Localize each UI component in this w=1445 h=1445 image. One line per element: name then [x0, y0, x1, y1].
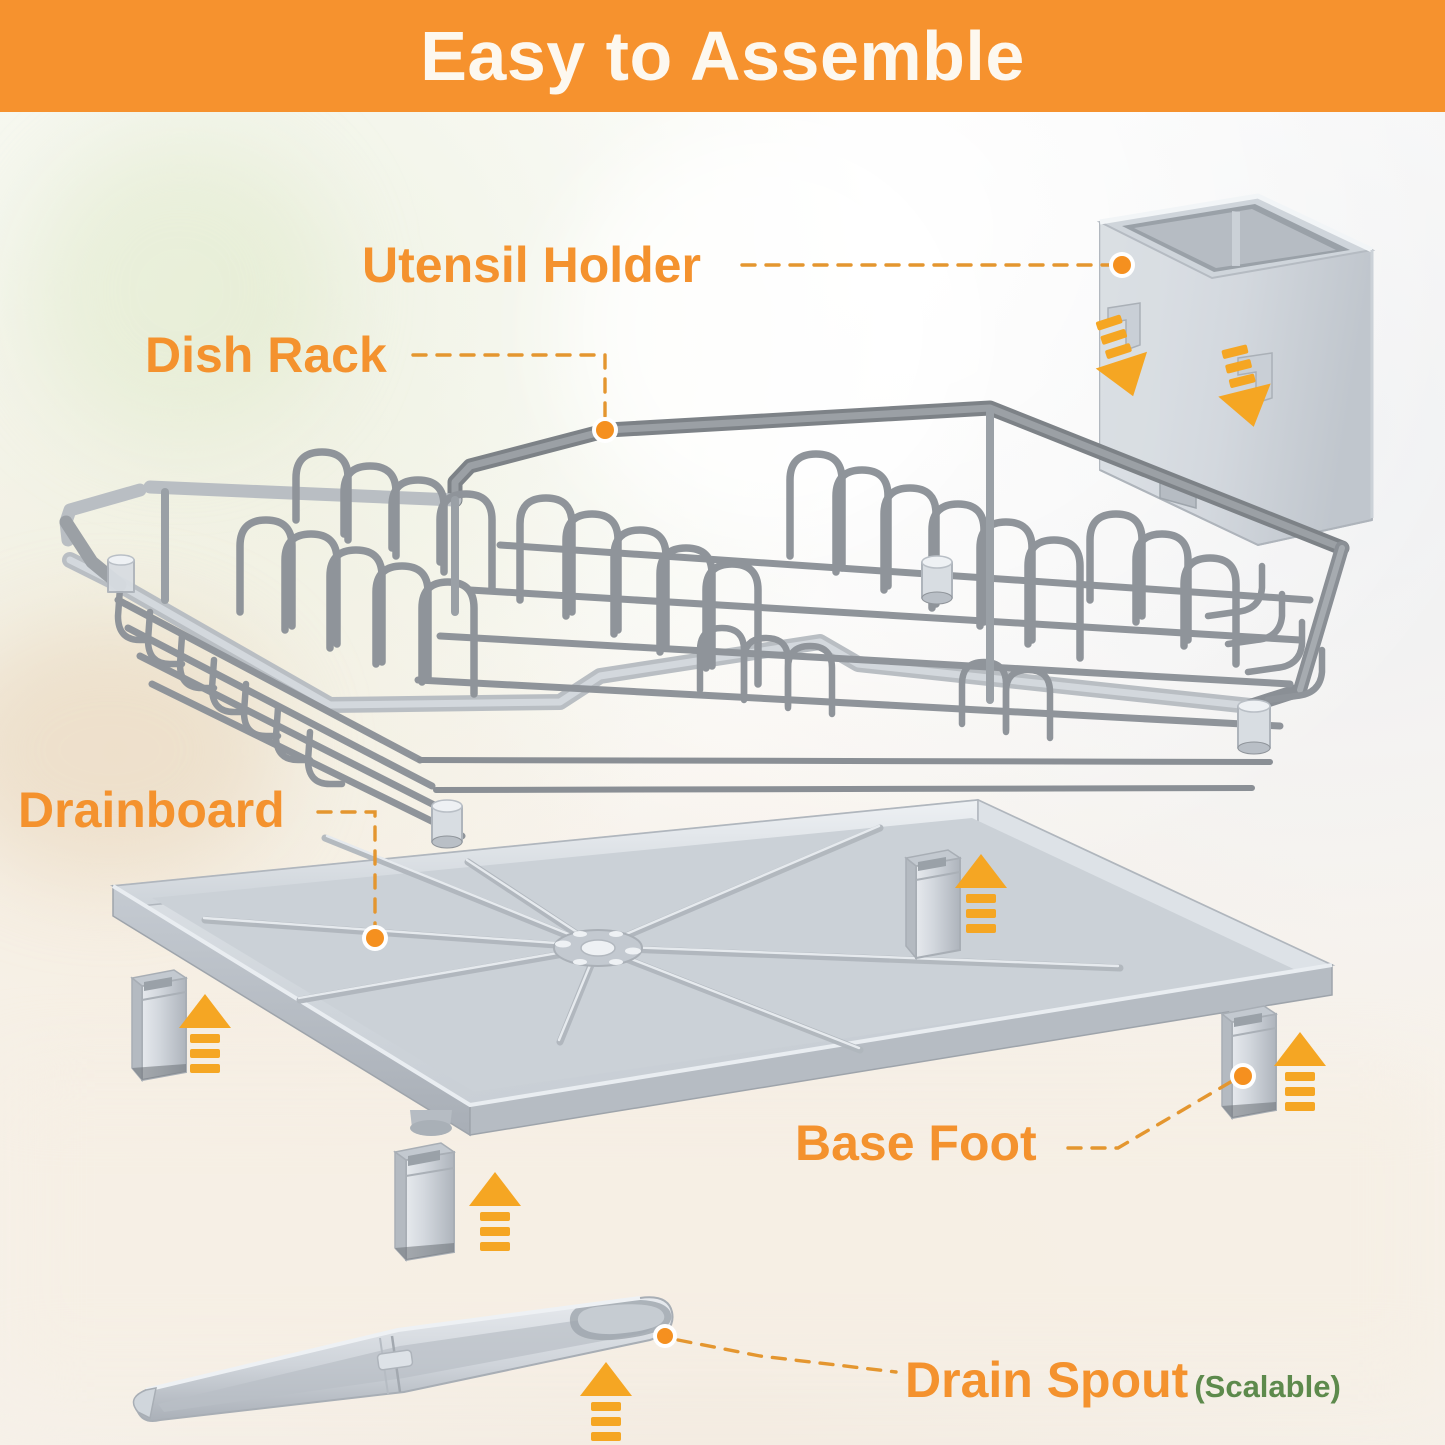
- callout-label-drainboard: Drainboard: [18, 785, 285, 835]
- infographic-canvas: Easy to Assemble: [0, 0, 1445, 1445]
- callout-label-dish-rack: Dish Rack: [145, 330, 387, 380]
- page-title: Easy to Assemble: [420, 21, 1025, 91]
- callout-text-utensil-holder: Utensil Holder: [362, 237, 701, 293]
- callout-label-drain-spout: Drain Spout(Scalable): [905, 1355, 1341, 1405]
- background-blur-window: [560, 120, 980, 540]
- callout-sublabel-scalable: (Scalable): [1194, 1369, 1340, 1404]
- callout-label-utensil-holder: Utensil Holder: [362, 240, 701, 290]
- callout-text-drain-spout: Drain Spout: [905, 1352, 1188, 1408]
- callout-text-base-foot: Base Foot: [795, 1115, 1037, 1171]
- callout-label-base-foot: Base Foot: [795, 1118, 1037, 1168]
- callout-text-dish-rack: Dish Rack: [145, 327, 387, 383]
- background-blur-green: [30, 140, 330, 440]
- callout-text-drainboard: Drainboard: [18, 782, 285, 838]
- background-blur-counter: [0, 1080, 1445, 1380]
- header-banner: Easy to Assemble: [0, 0, 1445, 112]
